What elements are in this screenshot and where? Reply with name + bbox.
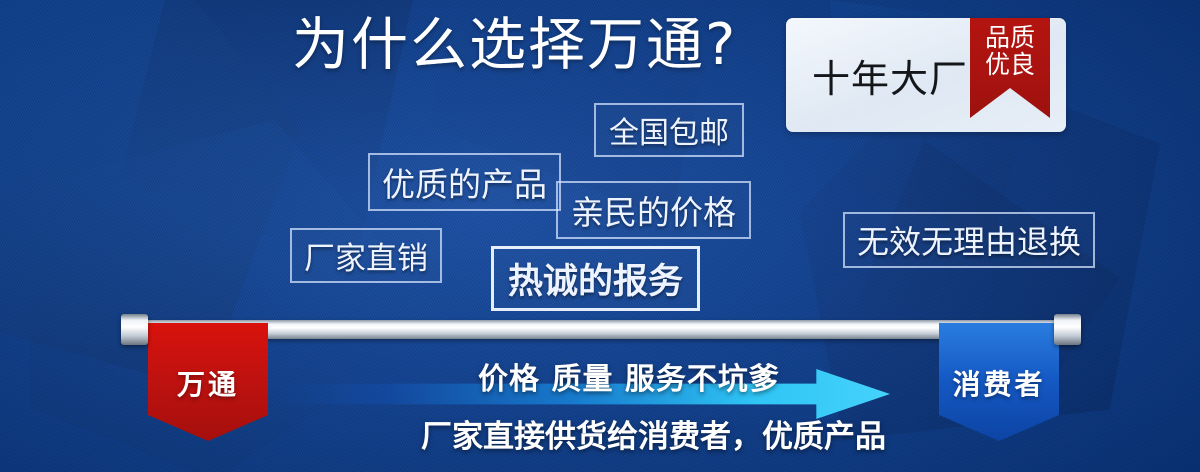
badge-main-label: 十年大厂	[812, 48, 968, 103]
feature-tag-nationwide-shipping: 全国包邮	[594, 103, 744, 157]
quality-ribbon: 品质 优良	[970, 18, 1050, 118]
feature-tag-free-returns: 无效无理由退换	[843, 212, 1095, 268]
page-title: 为什么选择万通?	[292, 16, 737, 76]
feature-tag-factory-direct: 厂家直销	[290, 228, 442, 283]
flag-source-label: 万通	[177, 363, 239, 403]
flag-target-label: 消费者	[952, 363, 1045, 403]
ribbon-label-line1: 品质	[985, 25, 1035, 52]
slogan-primary: 价格 质量 服务不坑爹	[478, 354, 780, 398]
promotional-banner: 为什么选择万通? 十年大厂 品质 优良 全国包邮 优质的产品 亲民的价格 厂家直…	[0, 0, 1200, 472]
rod-end-cap-right	[1054, 314, 1081, 345]
feature-tag-sincere-service: 热诚的报务	[491, 246, 700, 311]
feature-tag-affordable-price: 亲民的价格	[556, 181, 751, 239]
feature-tag-quality-products: 优质的产品	[368, 153, 561, 211]
ribbon-label-line2: 优良	[985, 52, 1035, 79]
quality-badge: 十年大厂 品质 优良	[786, 18, 1066, 132]
slogan-secondary: 厂家直接供货给消费者，优质产品	[421, 411, 886, 456]
metal-rod	[134, 320, 1064, 339]
rod-end-cap-left	[121, 314, 148, 345]
